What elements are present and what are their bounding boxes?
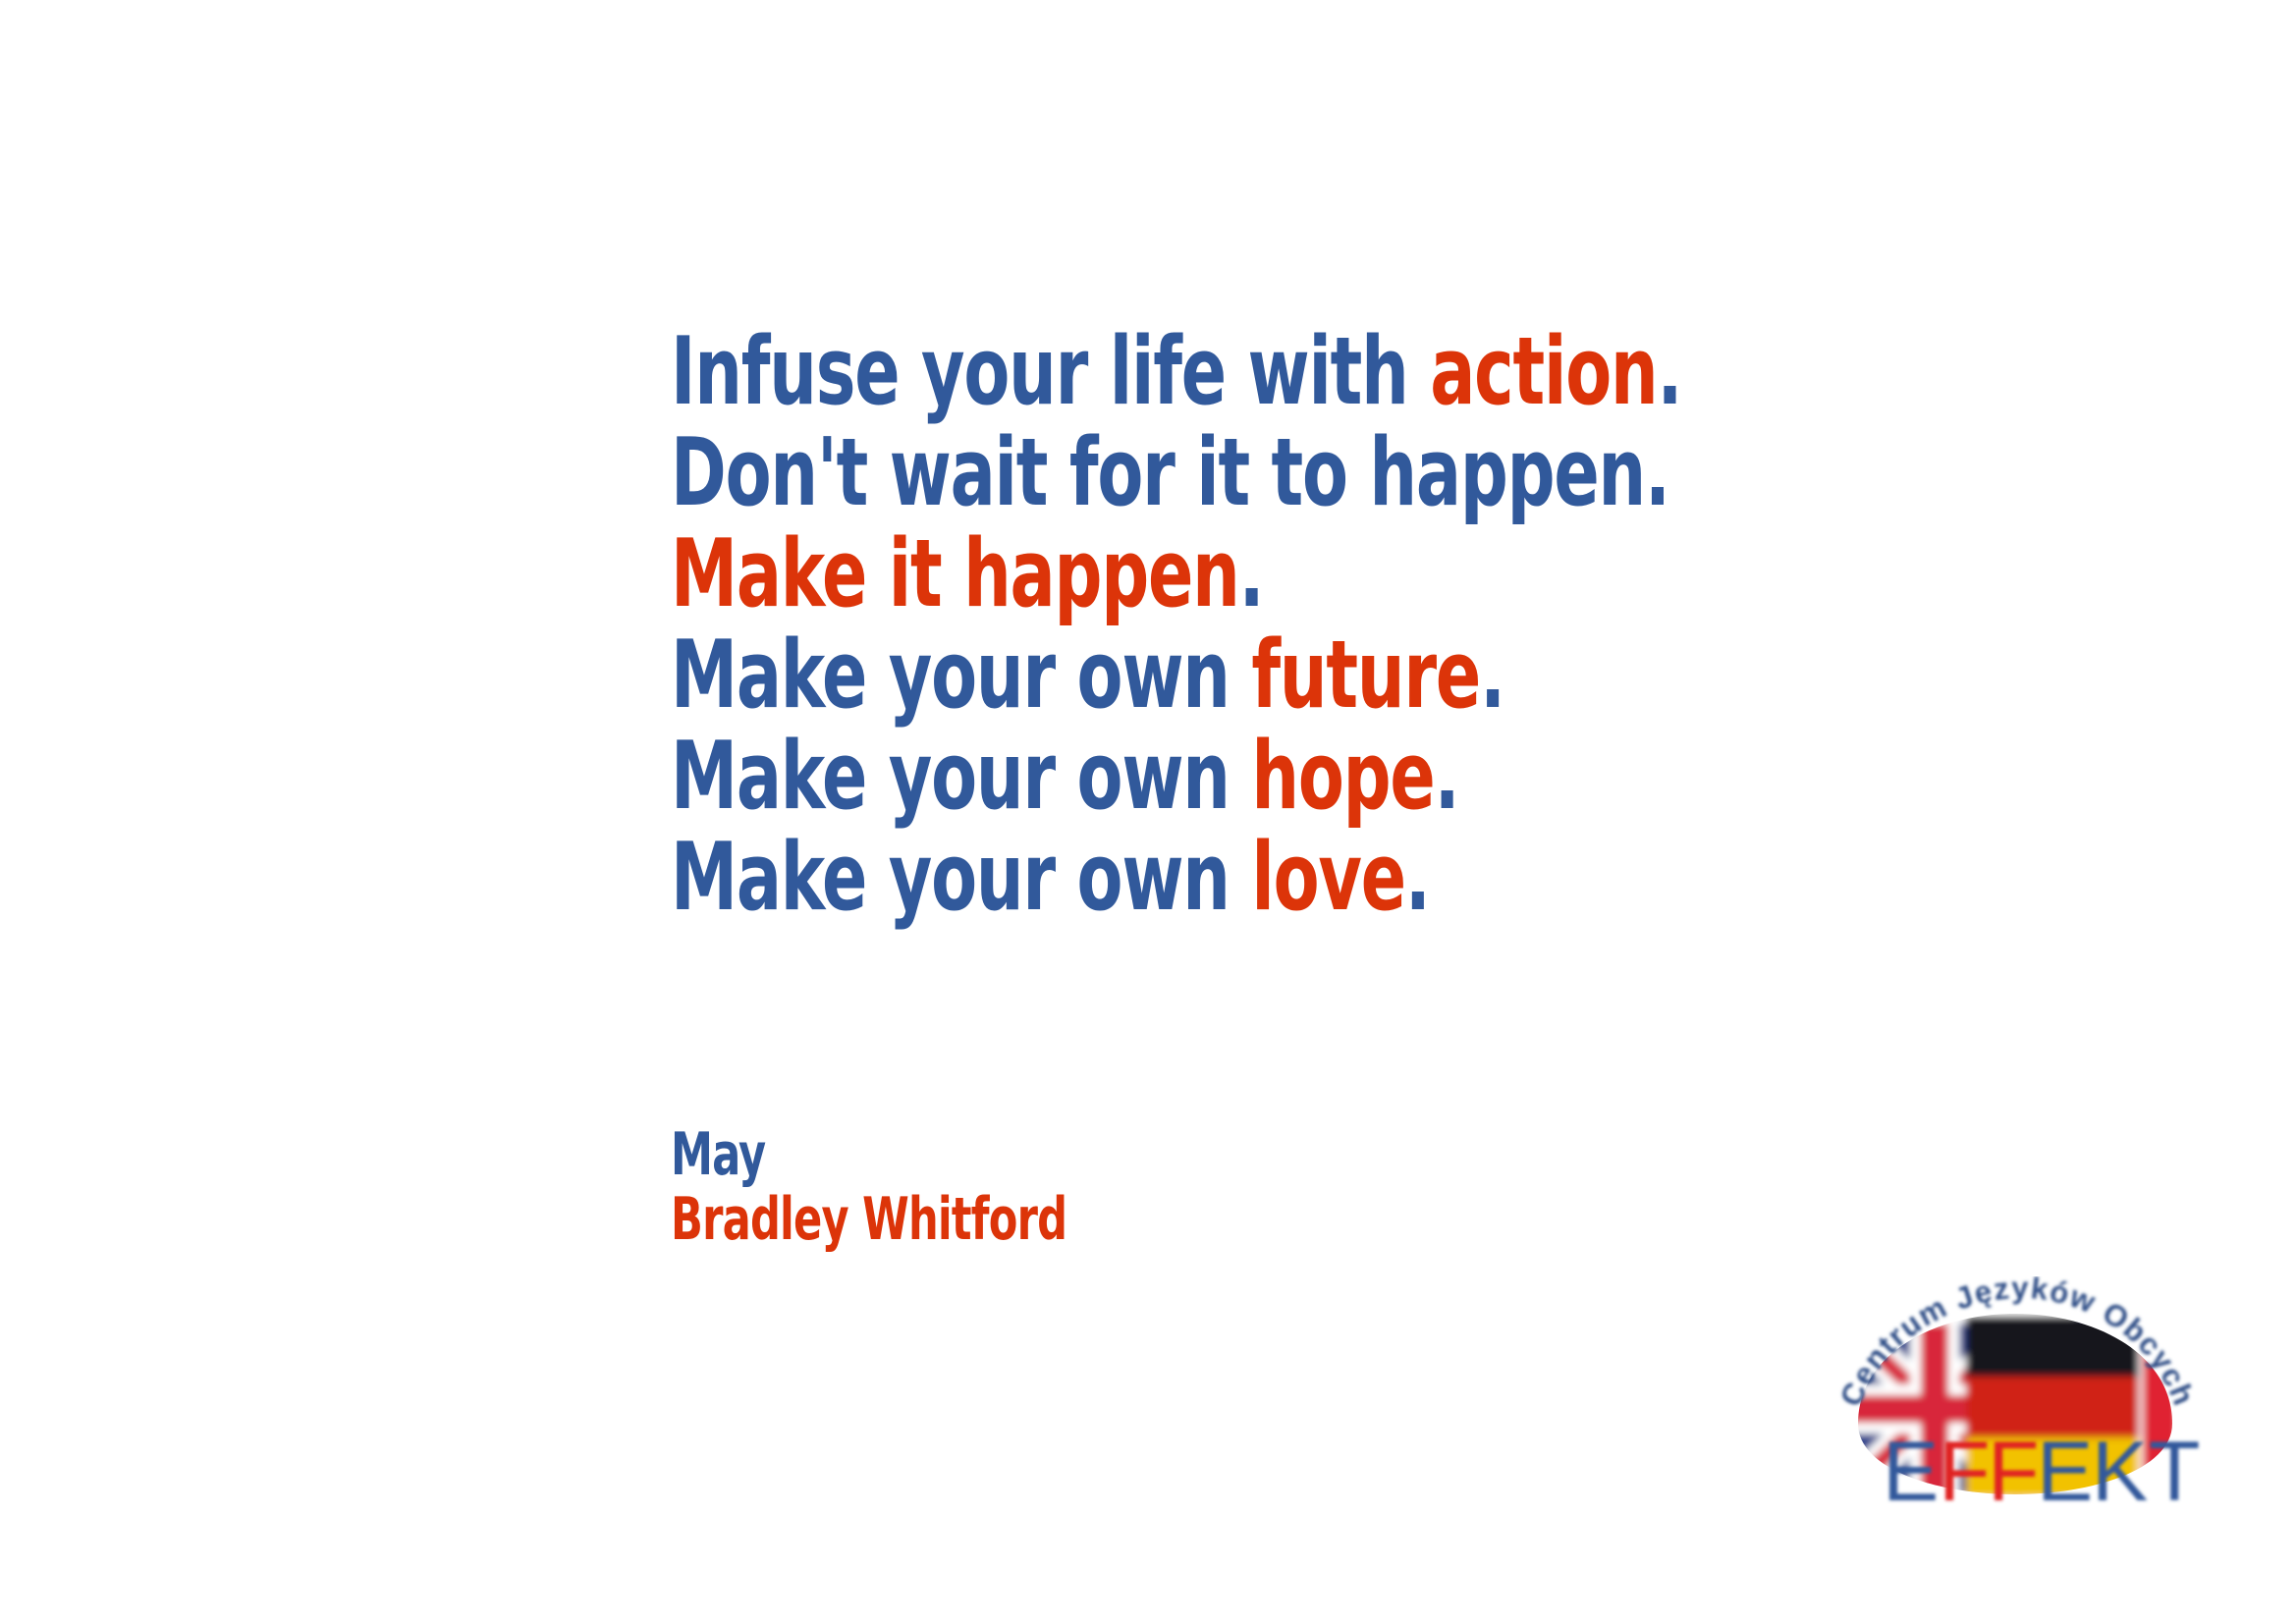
logo-letter-f2: F	[1988, 1425, 2044, 1519]
quote-segment: Don't wait for it to happen.	[671, 419, 1669, 527]
quote-line-4: Make your own future.	[671, 625, 1692, 727]
quote-segment-period: .	[1405, 824, 1430, 932]
quote-segment: Make your own	[671, 622, 1251, 730]
quote-line-2: Don't wait for it to happen.	[671, 423, 1692, 524]
quote-segment-highlight: love	[1251, 824, 1405, 932]
attribution-author: Bradley Whitford	[671, 1187, 1066, 1252]
logo-letter-k: K	[2092, 1425, 2152, 1519]
quote-block: Infuse your life with action. Don't wait…	[671, 322, 1947, 929]
quote-line-3: Make it happen.	[671, 524, 1692, 625]
quote-segment: Infuse your life with	[671, 318, 1430, 426]
quote-segment: Make your own	[671, 824, 1251, 932]
quote-segment: Make your own	[671, 723, 1251, 831]
attribution-block: May Bradley Whitford	[671, 1122, 1166, 1252]
logo-letter-e2: E	[2037, 1425, 2097, 1519]
quote-line-1: Infuse your life with action.	[671, 322, 1692, 423]
quote-line-5: Make your own hope.	[671, 727, 1692, 828]
effekt-logo: Centrum Języków Obcych E F F E K T	[1829, 1276, 2202, 1537]
quote-segment-period: .	[1657, 318, 1681, 426]
quote-segment-period: .	[1239, 520, 1264, 628]
quote-segment-period: .	[1480, 622, 1504, 730]
quote-segment-period: .	[1435, 723, 1459, 831]
quote-line-6: Make your own love.	[671, 828, 1692, 929]
attribution-month: May	[671, 1122, 1066, 1187]
poster-canvas: Infuse your life with action. Don't wait…	[0, 0, 2296, 1623]
logo-letter-e1: E	[1883, 1425, 1942, 1519]
logo-letter-f1: F	[1939, 1425, 1995, 1519]
quote-segment-highlight: action	[1430, 318, 1657, 426]
logo-wordmark: E F F E K T	[1883, 1425, 2202, 1519]
quote-segment-highlight: future	[1251, 622, 1480, 730]
logo-letter-t: T	[2149, 1425, 2202, 1519]
quote-segment-highlight: Make it happen	[671, 520, 1239, 628]
quote-segment-highlight: hope	[1251, 723, 1434, 831]
